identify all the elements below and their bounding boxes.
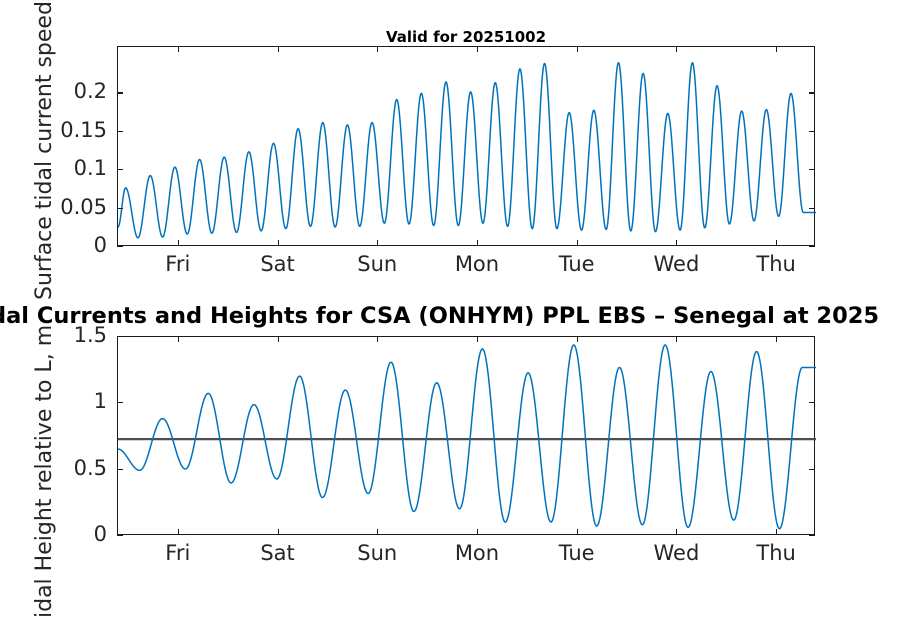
- y-tick-label-top: 0.05: [7, 197, 107, 218]
- x-tick-mark: [477, 240, 478, 246]
- x-tick-mark: [577, 240, 578, 246]
- tidal-height-curve: [118, 345, 816, 529]
- x-tick-mark: [676, 240, 677, 246]
- current-speed-curve: [118, 63, 816, 238]
- y-tick-label-bottom: 0.5: [7, 458, 107, 479]
- x-tick-label-bottom: Thu: [726, 543, 826, 564]
- x-tick-mark: [676, 529, 677, 535]
- y-tick-mark: [809, 169, 815, 170]
- figure-canvas: Surface tidal current speed, kn Valid fo…: [0, 0, 900, 600]
- x-tick-mark: [278, 240, 279, 246]
- tidal-height-plot: [117, 336, 815, 535]
- y-tick-mark: [809, 469, 815, 470]
- y-tick-mark: [117, 169, 123, 170]
- x-tick-mark: [477, 529, 478, 535]
- plot-clip-group: [118, 345, 816, 529]
- x-tick-mark: [776, 529, 777, 535]
- x-tick-label-bottom: Sat: [228, 543, 328, 564]
- x-tick-mark: [278, 336, 279, 342]
- figure-title: dal Currents and Heights for CSA (ONHYM)…: [0, 305, 879, 328]
- x-tick-label-bottom: Mon: [427, 543, 527, 564]
- x-tick-mark: [577, 529, 578, 535]
- y-tick-mark: [117, 469, 123, 470]
- current-speed-line: [118, 47, 816, 247]
- x-tick-mark: [776, 240, 777, 246]
- y-tick-mark: [809, 246, 815, 247]
- x-tick-label-bottom: Tue: [527, 543, 627, 564]
- x-tick-mark: [377, 46, 378, 52]
- x-tick-mark: [377, 240, 378, 246]
- x-tick-mark: [178, 529, 179, 535]
- x-tick-mark: [178, 46, 179, 52]
- x-tick-mark: [178, 240, 179, 246]
- y-tick-label-top: 0.1: [7, 158, 107, 179]
- y-tick-mark: [117, 92, 123, 93]
- y-tick-label-top: 0: [7, 235, 107, 256]
- x-tick-mark: [178, 336, 179, 342]
- x-tick-mark: [477, 336, 478, 342]
- current-speed-plot: [117, 46, 815, 246]
- x-tick-mark: [377, 336, 378, 342]
- x-tick-label-top: Sun: [327, 254, 427, 275]
- y-tick-mark: [117, 402, 123, 403]
- x-tick-label-bottom: Fri: [128, 543, 228, 564]
- y-tick-label-bottom: 1: [7, 391, 107, 412]
- y-tick-mark: [809, 208, 815, 209]
- y-tick-mark: [117, 535, 123, 536]
- x-tick-mark: [278, 529, 279, 535]
- x-tick-label-top: Fri: [128, 254, 228, 275]
- x-tick-mark: [278, 46, 279, 52]
- x-tick-label-top: Thu: [726, 254, 826, 275]
- x-tick-label-top: Wed: [626, 254, 726, 275]
- y-tick-mark: [809, 402, 815, 403]
- y-tick-label-top: 0.2: [7, 81, 107, 102]
- y-tick-mark: [117, 208, 123, 209]
- x-tick-mark: [577, 46, 578, 52]
- plot-clip-group: [118, 63, 816, 238]
- x-tick-mark: [776, 46, 777, 52]
- tidal-height-line: [118, 337, 816, 536]
- x-tick-mark: [477, 46, 478, 52]
- y-tick-mark: [809, 92, 815, 93]
- x-tick-label-top: Sat: [228, 254, 328, 275]
- y-tick-mark: [117, 246, 123, 247]
- x-tick-mark: [377, 529, 378, 535]
- x-tick-mark: [676, 46, 677, 52]
- x-tick-label-top: Mon: [427, 254, 527, 275]
- y-tick-label-bottom: 0: [7, 524, 107, 545]
- y-tick-label-top: 0.15: [7, 120, 107, 141]
- y-tick-mark: [809, 336, 815, 337]
- x-tick-mark: [776, 336, 777, 342]
- x-tick-label-top: Tue: [527, 254, 627, 275]
- y-tick-mark: [117, 336, 123, 337]
- y-tick-mark: [809, 131, 815, 132]
- y-tick-mark: [809, 535, 815, 536]
- x-tick-mark: [577, 336, 578, 342]
- y-tick-label-bottom: 1.5: [7, 325, 107, 346]
- plot-subtitle: Valid for 20251002: [117, 28, 815, 46]
- x-tick-mark: [676, 336, 677, 342]
- y-tick-mark: [117, 131, 123, 132]
- x-tick-label-bottom: Sun: [327, 543, 427, 564]
- x-tick-label-bottom: Wed: [626, 543, 726, 564]
